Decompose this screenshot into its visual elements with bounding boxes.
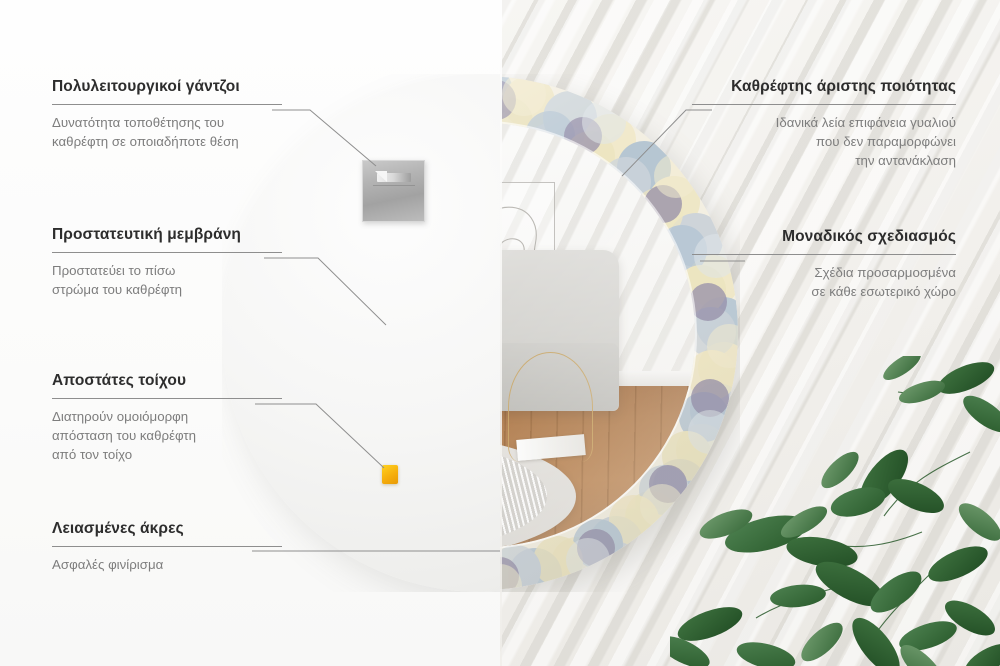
callout-body: Δυνατότητα τοποθέτησης του καθρέφτη σε ο…: [52, 114, 282, 152]
callout-title: Πολυλειτουργικοί γάντζοι: [52, 78, 282, 96]
callout-title: Καθρέφτης άριστης ποιότητας: [692, 78, 956, 96]
wall-spacer-pad: [382, 465, 398, 484]
callout-body: Σχέδια προσαρμοσμένα σε κάθε εσωτερικό χ…: [692, 264, 956, 302]
callout-body: Ιδανικά λεία επιφάνεια γυαλιού που δεν π…: [692, 114, 956, 171]
callout-rule: [692, 104, 956, 105]
callout-title: Μοναδικός σχεδιασμός: [692, 228, 956, 246]
hook-plate-seam: [373, 185, 415, 186]
callout-title: Προστατευτική μεμβράνη: [52, 226, 282, 244]
callout-rule: [692, 254, 956, 255]
callout-title: Λειασμένες άκρες: [52, 520, 282, 538]
callout-wall-spacers: Αποστάτες τοίχου Διατηρούν ομοιόμορφη απ…: [52, 372, 282, 465]
callout-top-quality-mirror: Καθρέφτης άριστης ποιότητας Ιδανικά λεία…: [692, 78, 956, 171]
callout-title: Αποστάτες τοίχου: [52, 372, 282, 390]
callout-rule: [52, 104, 282, 105]
product-feature-infographic: Πολυλειτουργικοί γάντζοι Δυνατότητα τοπο…: [0, 0, 1000, 666]
callout-unique-design: Μοναδικός σχεδιασμός Σχέδια προσαρμοσμέν…: [692, 228, 956, 302]
panel-divider: [500, 0, 502, 666]
callout-protective-membrane: Προστατευτική μεμβράνη Προστατεύει το πί…: [52, 226, 282, 300]
callout-smoothed-edges: Λειασμένες άκρες Ασφαλές φινίρισμα: [52, 520, 282, 575]
callout-multifunctional-hooks: Πολυλειτουργικοί γάντζοι Δυνατότητα τοπο…: [52, 78, 282, 152]
callout-body: Διατηρούν ομοιόμορφη απόσταση του καθρέφ…: [52, 408, 282, 465]
callout-rule: [52, 252, 282, 253]
callout-body: Προστατεύει το πίσω στρώμα του καθρέφτη: [52, 262, 282, 300]
round-mirror: [222, 74, 740, 592]
mirror-hook-plate: [362, 160, 425, 222]
callout-rule: [52, 546, 282, 547]
callout-rule: [52, 398, 282, 399]
callout-body: Ασφαλές φινίρισμα: [52, 556, 282, 575]
